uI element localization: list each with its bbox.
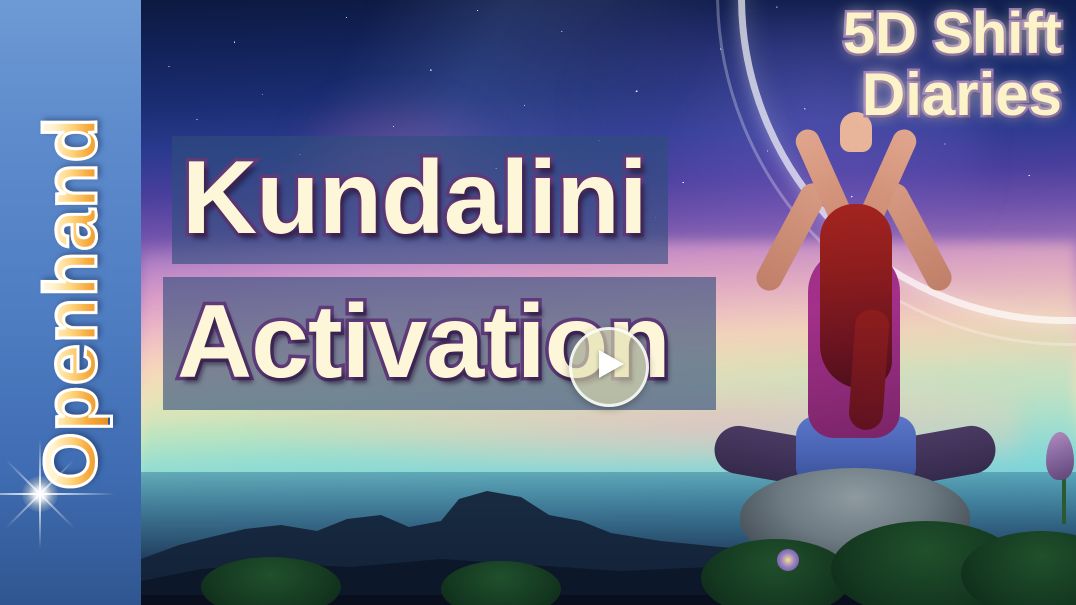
title-line-1-box: Kundalini [172, 136, 668, 264]
show-title-line-2: Diaries [843, 66, 1062, 124]
play-triangle-icon [599, 350, 624, 378]
brand-wordmark: Openhand [34, 116, 108, 490]
show-title-line-1: 5D Shift [843, 6, 1062, 62]
meditating-woman [700, 120, 1000, 570]
lily-pad [701, 539, 851, 605]
lily-pad [441, 561, 561, 605]
foreground-foliage [141, 509, 1076, 605]
water-lily-flower [777, 549, 799, 571]
title-line-1-text: Kundalini [172, 146, 647, 250]
show-title: 5D Shift Diaries [843, 6, 1062, 123]
video-thumbnail: Openhand Kundalini Activation 5D Shift D… [0, 0, 1076, 605]
lily-pad [201, 557, 341, 605]
play-button[interactable] [569, 327, 649, 407]
sparkle-star-icon [38, 492, 42, 496]
brand-sidebar: Openhand [0, 0, 141, 605]
